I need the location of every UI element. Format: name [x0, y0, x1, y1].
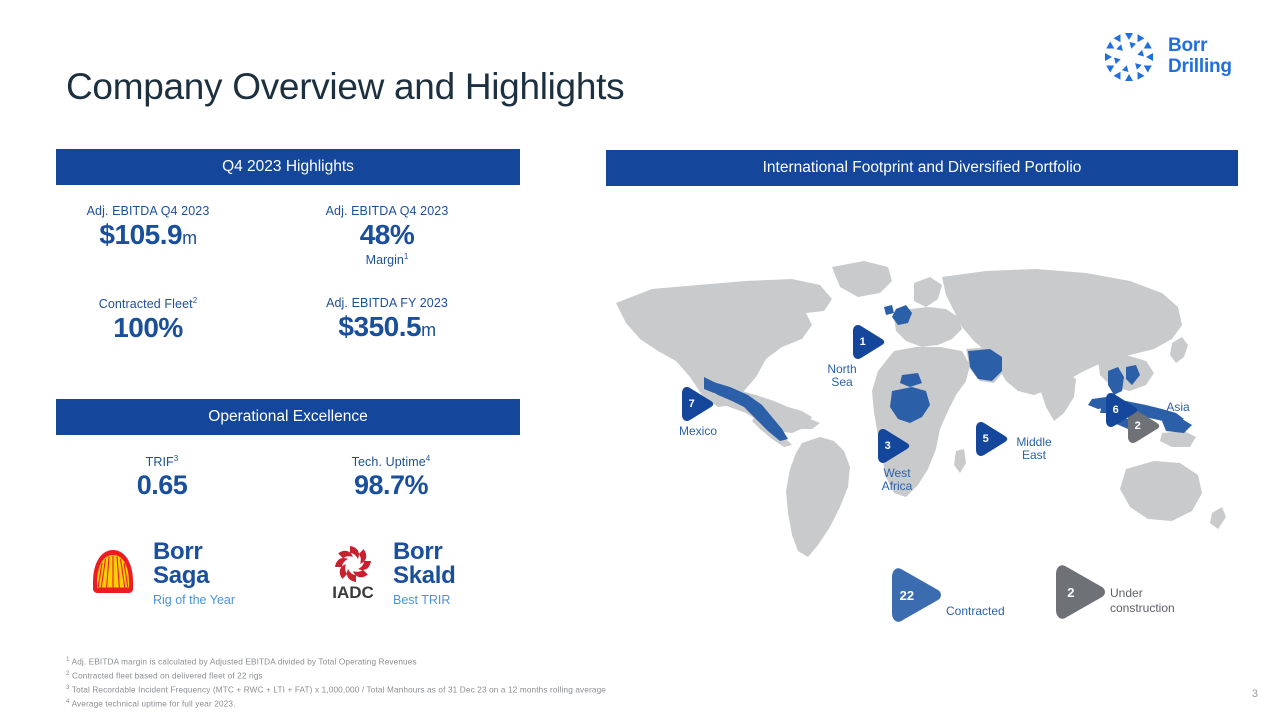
borr-drilling-logo: Borr Drilling — [1098, 26, 1258, 88]
borr-logo-mark-icon — [1098, 28, 1160, 86]
world-map: 1 North Sea 7 Mexico 3 West Africa — [606, 255, 1246, 585]
footnote-3: 3 Total Recordable Incident Frequency (M… — [66, 683, 826, 697]
map-label-mexico: Mexico — [664, 425, 732, 438]
footnotes: 1 Adj. EBITDA margin is calculated by Ad… — [66, 655, 826, 711]
footnote-1: 1 Adj. EBITDA margin is calculated by Ad… — [66, 655, 826, 669]
kpi-footnote-ref: 3 — [174, 454, 179, 463]
award-subtitle: Best TRIR — [393, 594, 456, 607]
kpi-adj-ebitda-fy: Adj. EBITDA FY 2023 $350.5m — [277, 296, 497, 343]
award-subtitle: Rig of the Year — [153, 594, 235, 607]
legend-count: 2 — [1050, 562, 1092, 622]
award-borr-skald: IADC Borr Skald Best TRIR — [325, 540, 456, 607]
kpi-value: 48% — [277, 219, 497, 251]
kpi-sub-footnote-ref: 1 — [404, 252, 408, 261]
legend-contracted: 22 Contracted — [886, 565, 1005, 625]
page-title: Company Overview and Highlights — [66, 66, 624, 108]
map-marker-west-africa[interactable]: 3 — [874, 427, 911, 465]
page-number: 3 — [1252, 688, 1258, 700]
kpi-label: Adj. EBITDA Q4 2023 — [277, 204, 497, 218]
kpi-sublabel: Margin1 — [277, 252, 497, 267]
marker-count: 3 — [874, 427, 901, 465]
shell-logo-icon — [85, 542, 141, 604]
kpi-adj-ebitda-q4: Adj. EBITDA Q4 2023 $105.9m — [38, 204, 258, 251]
map-marker-north-sea[interactable]: 1 — [849, 323, 886, 361]
kpi-value: $350.5m — [277, 311, 497, 343]
kpi-value: 98.7% — [281, 470, 501, 501]
marker-count: 6 — [1102, 391, 1129, 429]
footnote-4: 4 Average technical uptime for full year… — [66, 697, 826, 711]
kpi-label: Adj. EBITDA FY 2023 — [277, 296, 497, 310]
map-label-west-africa: West Africa — [864, 467, 930, 494]
legend-under-construction: 2 Under construction — [1050, 562, 1175, 622]
q4-highlights-header: Q4 2023 Highlights — [56, 149, 520, 185]
footnote-2: 2 Contracted fleet based on delivered fl… — [66, 669, 826, 683]
award-name-line1: Borr — [393, 540, 456, 564]
kpi-tech-uptime: Tech. Uptime4 98.7% — [281, 454, 501, 501]
kpi-label: TRIF3 — [52, 454, 272, 469]
map-label-north-sea: North Sea — [806, 363, 878, 390]
kpi-label: Tech. Uptime4 — [281, 454, 501, 469]
award-borr-saga: Borr Saga Rig of the Year — [85, 540, 235, 607]
legend-label: Contracted — [946, 604, 1005, 619]
kpi-value: 100% — [38, 312, 258, 344]
kpi-footnote-ref: 2 — [193, 296, 198, 305]
legend-label: Under construction — [1110, 586, 1175, 616]
kpi-adj-ebitda-margin: Adj. EBITDA Q4 2023 48% Margin1 — [277, 204, 497, 267]
map-marker-mexico[interactable]: 7 — [678, 385, 715, 423]
logo-text-line2: Drilling — [1168, 57, 1232, 78]
logo-text-line1: Borr — [1168, 36, 1232, 57]
legend-triangle-icon: 22 — [886, 565, 944, 625]
map-marker-asia[interactable]: 6 — [1102, 391, 1139, 429]
kpi-value: $105.9m — [38, 219, 258, 251]
kpi-trif: TRIF3 0.65 — [52, 454, 272, 501]
award-name-line2: Skald — [393, 564, 456, 588]
map-label-middle-east: Middle East — [996, 436, 1072, 463]
kpi-value: 0.65 — [52, 470, 272, 501]
kpi-contracted-fleet: Contracted Fleet2 100% — [38, 296, 258, 344]
kpi-label: Adj. EBITDA Q4 2023 — [38, 204, 258, 218]
kpi-footnote-ref: 4 — [426, 454, 431, 463]
iadc-logo-icon: IADC — [325, 542, 381, 604]
kpi-unit: m — [421, 320, 436, 340]
svg-text:IADC: IADC — [332, 583, 374, 602]
marker-count: 1 — [849, 323, 876, 361]
marker-count: 7 — [678, 385, 705, 423]
legend-count: 22 — [886, 565, 928, 625]
operational-excellence-header: Operational Excellence — [56, 399, 520, 435]
award-name-line2: Saga — [153, 564, 235, 588]
kpi-unit: m — [182, 228, 197, 248]
international-footprint-header: International Footprint and Diversified … — [606, 150, 1238, 186]
legend-triangle-icon: 2 — [1050, 562, 1108, 622]
award-name-line1: Borr — [153, 540, 235, 564]
kpi-label: Contracted Fleet2 — [38, 296, 258, 311]
slide: Borr Drilling Company Overview and Highl… — [0, 0, 1280, 720]
